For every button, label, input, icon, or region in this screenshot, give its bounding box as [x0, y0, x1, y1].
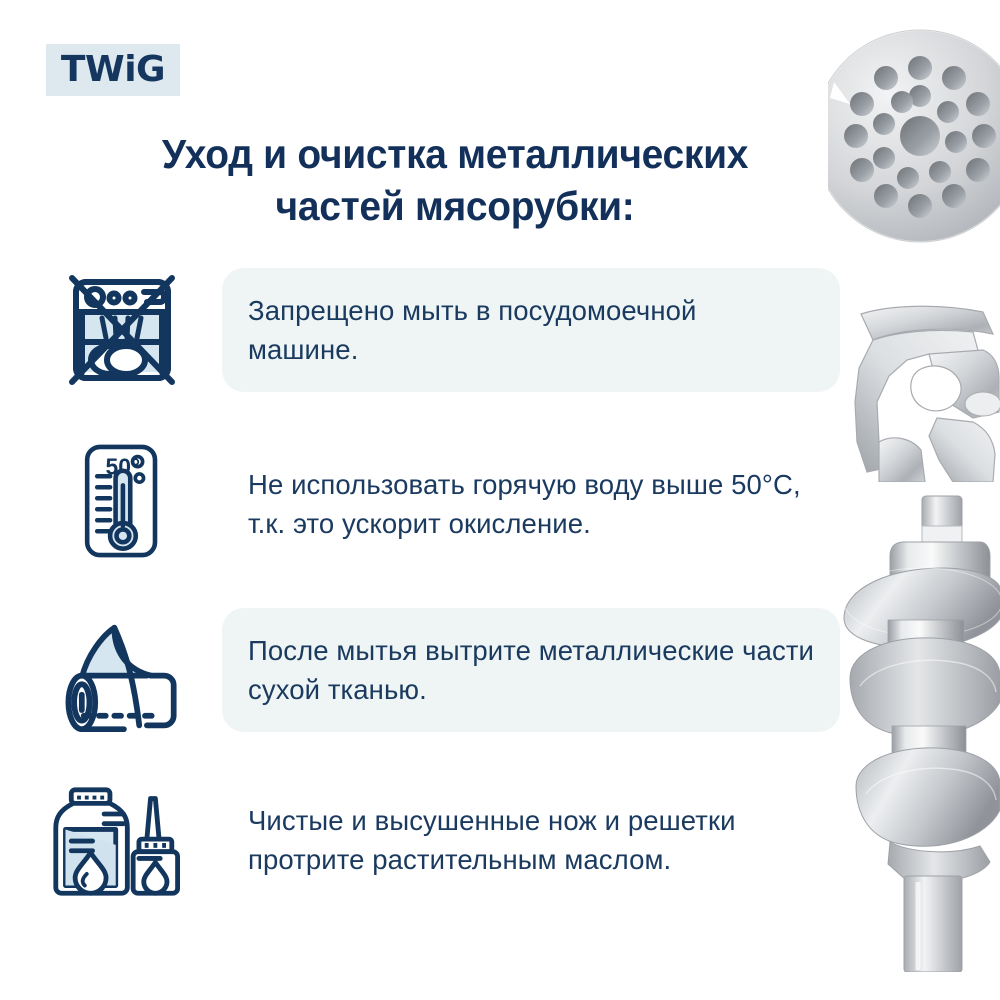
- brand-logo: TWiG: [46, 44, 180, 96]
- instruction-box-3: После мытья вытрите металлические части …: [222, 608, 840, 732]
- instruction-text-2: Не использовать горячую воду выше 50°C, …: [248, 465, 814, 543]
- instruction-text-4: Чистые и высушенные нож и решетки протри…: [248, 801, 814, 879]
- page-title: Уход и очистка металлических частей мясо…: [80, 128, 831, 233]
- product-photo-column: [825, 0, 1000, 1000]
- instruction-box-1: Запрещено мыть в посудомоечной машине.: [222, 268, 840, 392]
- page-title-line-2: частей мясорубки:: [80, 180, 831, 232]
- infographic-page: TWiG Уход и очистка металлических частей…: [0, 0, 1000, 1000]
- grinder-auger-photo: [830, 490, 1000, 972]
- instruction-box-4: Чистые и высушенные нож и решетки протри…: [222, 788, 840, 892]
- instruction-text-1: Запрещено мыть в посудомоечной машине.: [248, 291, 814, 369]
- grinder-blade-photo: [833, 292, 1000, 482]
- grinder-plate-photo: [828, 22, 1000, 250]
- dry-cloth-roll-icon: [44, 604, 200, 750]
- no-dishwasher-icon: [44, 252, 200, 408]
- instruction-box-2: Не использовать горячую воду выше 50°C, …: [222, 452, 840, 556]
- page-title-line-1: Уход и очистка металлических: [80, 128, 831, 180]
- brand-logo-text: TWiG: [61, 52, 165, 88]
- oil-bottles-icon: [44, 770, 200, 916]
- instruction-text-3: После мытья вытрите металлические части …: [248, 631, 814, 709]
- thermometer-50c-icon: 50°: [44, 428, 200, 574]
